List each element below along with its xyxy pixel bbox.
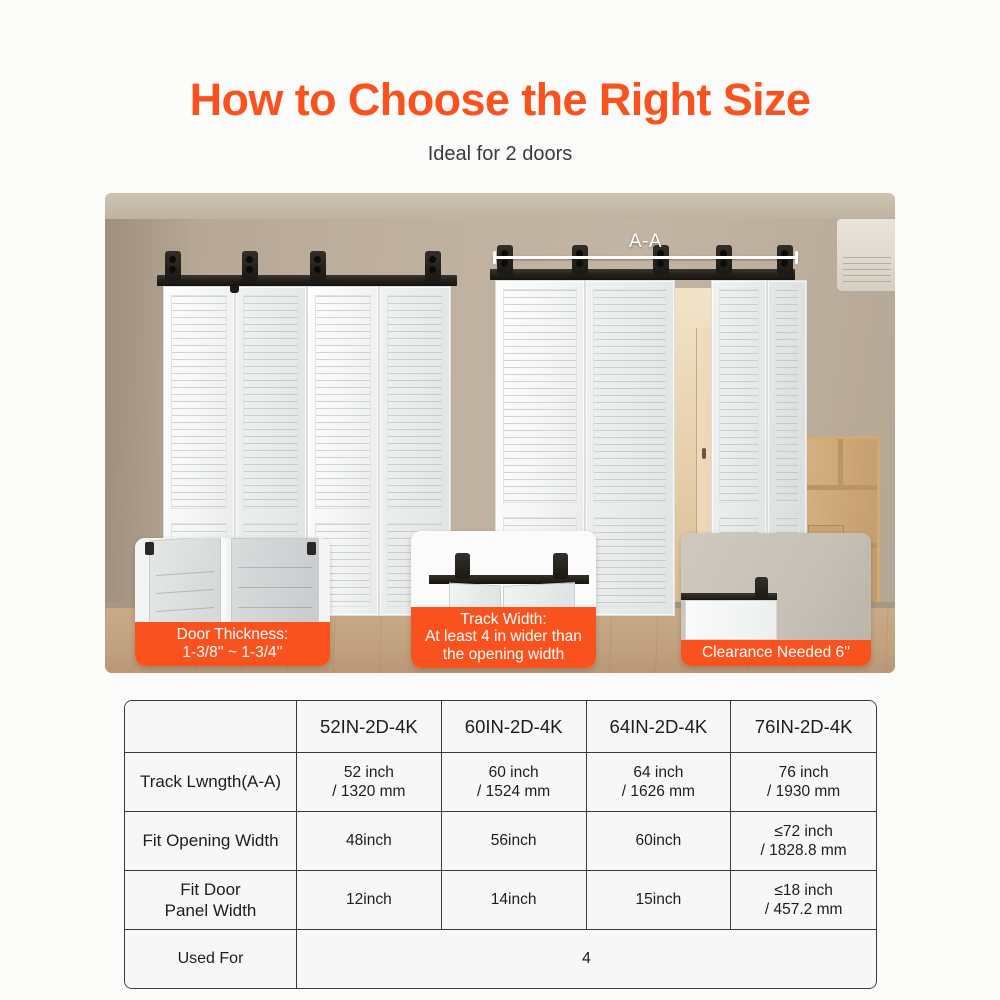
table-header-blank — [125, 701, 297, 753]
louver-slats — [171, 295, 227, 509]
track-rail-right — [490, 269, 795, 280]
track-rail-left — [157, 275, 457, 286]
table-header-52in: 52IN-2D-4K — [297, 701, 442, 753]
table-cell: 76 inch / 1930 mm — [731, 753, 876, 812]
table-row-track-length: Track Lwngth(A-A) 52 inch / 1320 mm 60 i… — [125, 753, 876, 812]
row-label: Fit Door Panel Width — [125, 871, 297, 930]
hinge-icon — [307, 542, 316, 555]
roller-hanger — [165, 251, 181, 281]
louver-slats — [775, 289, 799, 503]
table-cell-merged: 4 — [297, 930, 876, 988]
hallway-door-knob-icon — [702, 448, 706, 459]
row-label: Track Lwngth(A-A) — [125, 753, 297, 812]
ceiling — [105, 193, 895, 219]
callout-clearance-needed: Clearance Needed 6'' — [681, 533, 871, 666]
size-spec-table: 52IN-2D-4K 60IN-2D-4K 64IN-2D-4K 76IN-2D… — [124, 700, 877, 989]
infographic-page: How to Choose the Right Size Ideal for 2… — [0, 0, 1000, 1000]
door-panel-closeup — [685, 600, 777, 640]
callout-label: Clearance Needed 6'' — [681, 640, 871, 666]
table-header-76in: 76IN-2D-4K — [731, 701, 876, 753]
table-header-64in: 64IN-2D-4K — [587, 701, 732, 753]
callout-track-width: Track Width: At least 4 in wider than th… — [411, 531, 596, 668]
shelf-board — [798, 485, 877, 490]
product-room-photo: A-A Door Thickness: 1-3/8'' ~ 1-3/4'' — [105, 193, 895, 673]
table-row-fit-opening-width: Fit Opening Width 48inch 56inch 60inch ≤… — [125, 812, 876, 871]
table-cell: 60inch — [587, 812, 732, 871]
shelf-divider — [838, 439, 843, 485]
table-row-used-for: Used For 4 — [125, 930, 876, 988]
table-row-fit-door-panel-width: Fit Door Panel Width 12inch 14inch 15inc… — [125, 871, 876, 930]
header-section: How to Choose the Right Size Ideal for 2… — [0, 0, 1000, 193]
roller-hanger — [553, 553, 568, 579]
door-panel — [585, 280, 675, 616]
louver-slats — [387, 295, 443, 509]
roller-hanger — [425, 251, 441, 281]
table-cell: 56inch — [442, 812, 587, 871]
air-conditioner — [837, 219, 895, 291]
louver-slats — [243, 295, 299, 509]
table-cell: 14inch — [442, 871, 587, 930]
row-label: Used For — [125, 930, 297, 988]
page-subtitle: Ideal for 2 doors — [0, 143, 1000, 166]
hinge-icon — [145, 542, 154, 555]
callout-label: Track Width: At least 4 in wider than th… — [411, 607, 596, 668]
table-cell: 15inch — [587, 871, 732, 930]
table-header-60in: 60IN-2D-4K — [442, 701, 587, 753]
louver-slats — [593, 517, 667, 607]
ac-vents-icon — [843, 257, 891, 283]
roller-hanger — [310, 251, 326, 281]
roller-hanger — [242, 251, 258, 281]
roller-hanger — [755, 577, 768, 601]
dimension-line — [493, 256, 798, 259]
table-cell: ≤18 inch / 457.2 mm — [731, 871, 876, 930]
louver-slats — [719, 289, 759, 503]
roller-hanger — [455, 553, 470, 579]
page-title: How to Choose the Right Size — [0, 76, 1000, 123]
dimension-label: A-A — [493, 231, 798, 253]
table-header-row: 52IN-2D-4K 60IN-2D-4K 64IN-2D-4K 76IN-2D… — [125, 701, 876, 753]
table-cell: 48inch — [297, 812, 442, 871]
table-cell: 60 inch / 1524 mm — [442, 753, 587, 812]
table-cell: 12inch — [297, 871, 442, 930]
louver-slats — [593, 289, 667, 503]
table-cell: 52 inch / 1320 mm — [297, 753, 442, 812]
callout-door-thickness: Door Thickness: 1-3/8'' ~ 1-3/4'' — [135, 538, 330, 666]
table-cell: 64 inch / 1626 mm — [587, 753, 732, 812]
louver-slats — [315, 295, 371, 509]
table-cell: ≤72 inch / 1828.8 mm — [731, 812, 876, 871]
dimension-annotation-aa: A-A — [493, 231, 798, 259]
row-label: Fit Opening Width — [125, 812, 297, 871]
track-stopper — [230, 286, 239, 293]
callout-label: Door Thickness: 1-3/8'' ~ 1-3/4'' — [135, 622, 330, 666]
louver-slats — [503, 289, 577, 503]
